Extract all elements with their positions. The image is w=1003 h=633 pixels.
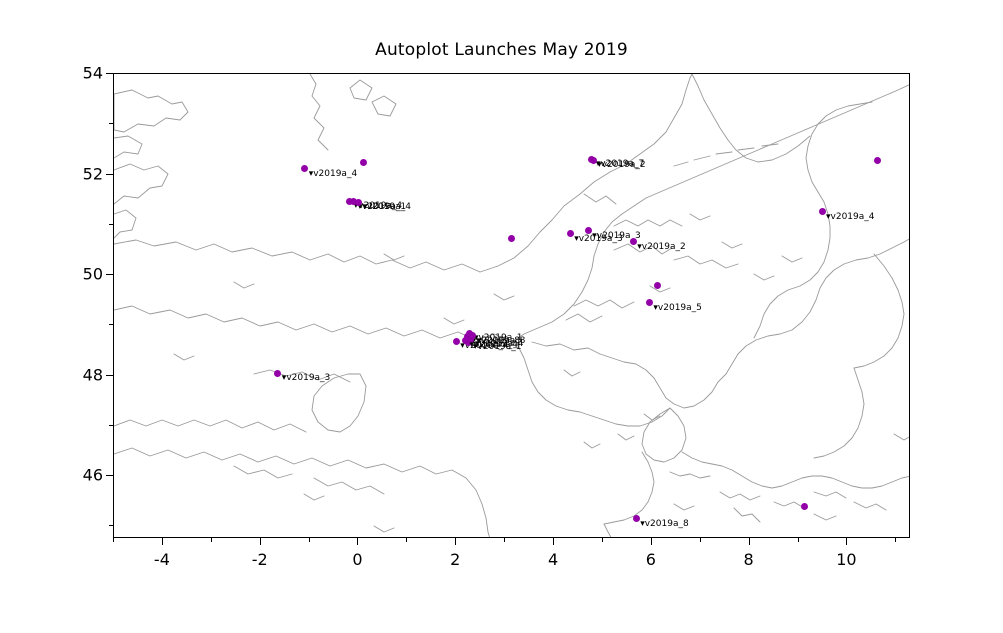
chart-title: Autoplot Launches May 2019 <box>0 40 1003 60</box>
y-tick-label: 54 <box>83 64 103 83</box>
scatter-point <box>801 503 808 510</box>
x-tick-label: -4 <box>154 550 170 569</box>
point-label: ▾v2019a_2 <box>597 161 646 170</box>
figure-canvas: Autoplot Launches May 2019 <box>0 0 1003 633</box>
x-tick-label: 8 <box>744 550 754 569</box>
y-tick-label: 48 <box>83 365 103 384</box>
scatter-point <box>453 338 460 345</box>
x-tick-label: 10 <box>836 550 856 569</box>
y-tick-minor <box>109 224 113 225</box>
x-tick-label: 4 <box>548 550 558 569</box>
x-tick-major <box>651 538 652 545</box>
x-tick-minor <box>798 538 799 542</box>
x-tick-major <box>357 538 358 545</box>
x-tick-major <box>162 538 163 545</box>
point-label: ▾v2019a_8 <box>640 520 689 529</box>
point-label: ▾v2019a_3 <box>282 374 331 383</box>
x-tick-minor <box>504 538 505 542</box>
y-tick-minor <box>109 525 113 526</box>
x-tick-minor <box>406 538 407 542</box>
scatter-point <box>654 282 661 289</box>
x-tick-label: -2 <box>252 550 268 569</box>
point-label: ▾v2019a_4 <box>309 170 358 179</box>
y-tick-label: 52 <box>83 164 103 183</box>
y-tick-minor <box>109 324 113 325</box>
y-tick-major <box>106 174 113 175</box>
y-tick-major <box>106 73 113 74</box>
plot-area[interactable]: ▾v2019a_4▾v2019a_4▾v2019a_1▾v2019a_4▾v20… <box>113 73 910 538</box>
scatter-point <box>590 157 597 164</box>
point-label: ▾v2019a_2 <box>637 243 686 252</box>
x-tick-major <box>260 538 261 545</box>
x-tick-label: 2 <box>450 550 460 569</box>
y-tick-label: 50 <box>83 265 103 284</box>
scatter-point <box>508 235 515 242</box>
x-tick-label: 6 <box>646 550 656 569</box>
point-label: ▾v2019a_4 <box>470 341 519 350</box>
x-tick-major <box>455 538 456 545</box>
x-tick-label: 0 <box>352 550 362 569</box>
scatter-point <box>274 370 281 377</box>
y-tick-major <box>106 475 113 476</box>
x-tick-minor <box>700 538 701 542</box>
x-tick-major <box>553 538 554 545</box>
x-tick-minor <box>895 538 896 542</box>
y-tick-major <box>106 274 113 275</box>
y-tick-minor <box>109 425 113 426</box>
basemap-coastlines <box>114 74 910 538</box>
point-label: ▾v2019a_4 <box>826 213 875 222</box>
point-label: ▾v2019a_5 <box>653 304 702 313</box>
x-tick-minor <box>602 538 603 542</box>
scatter-point <box>355 199 362 206</box>
point-label: ▾v2019a_4 <box>362 203 411 212</box>
x-tick-major <box>749 538 750 545</box>
scatter-point <box>819 208 826 215</box>
x-tick-minor <box>211 538 212 542</box>
y-tick-major <box>106 375 113 376</box>
scatter-point <box>462 337 469 344</box>
x-tick-major <box>846 538 847 545</box>
y-tick-minor <box>109 123 113 124</box>
y-tick-label: 46 <box>83 466 103 485</box>
x-tick-minor <box>309 538 310 542</box>
x-tick-minor <box>113 538 114 542</box>
